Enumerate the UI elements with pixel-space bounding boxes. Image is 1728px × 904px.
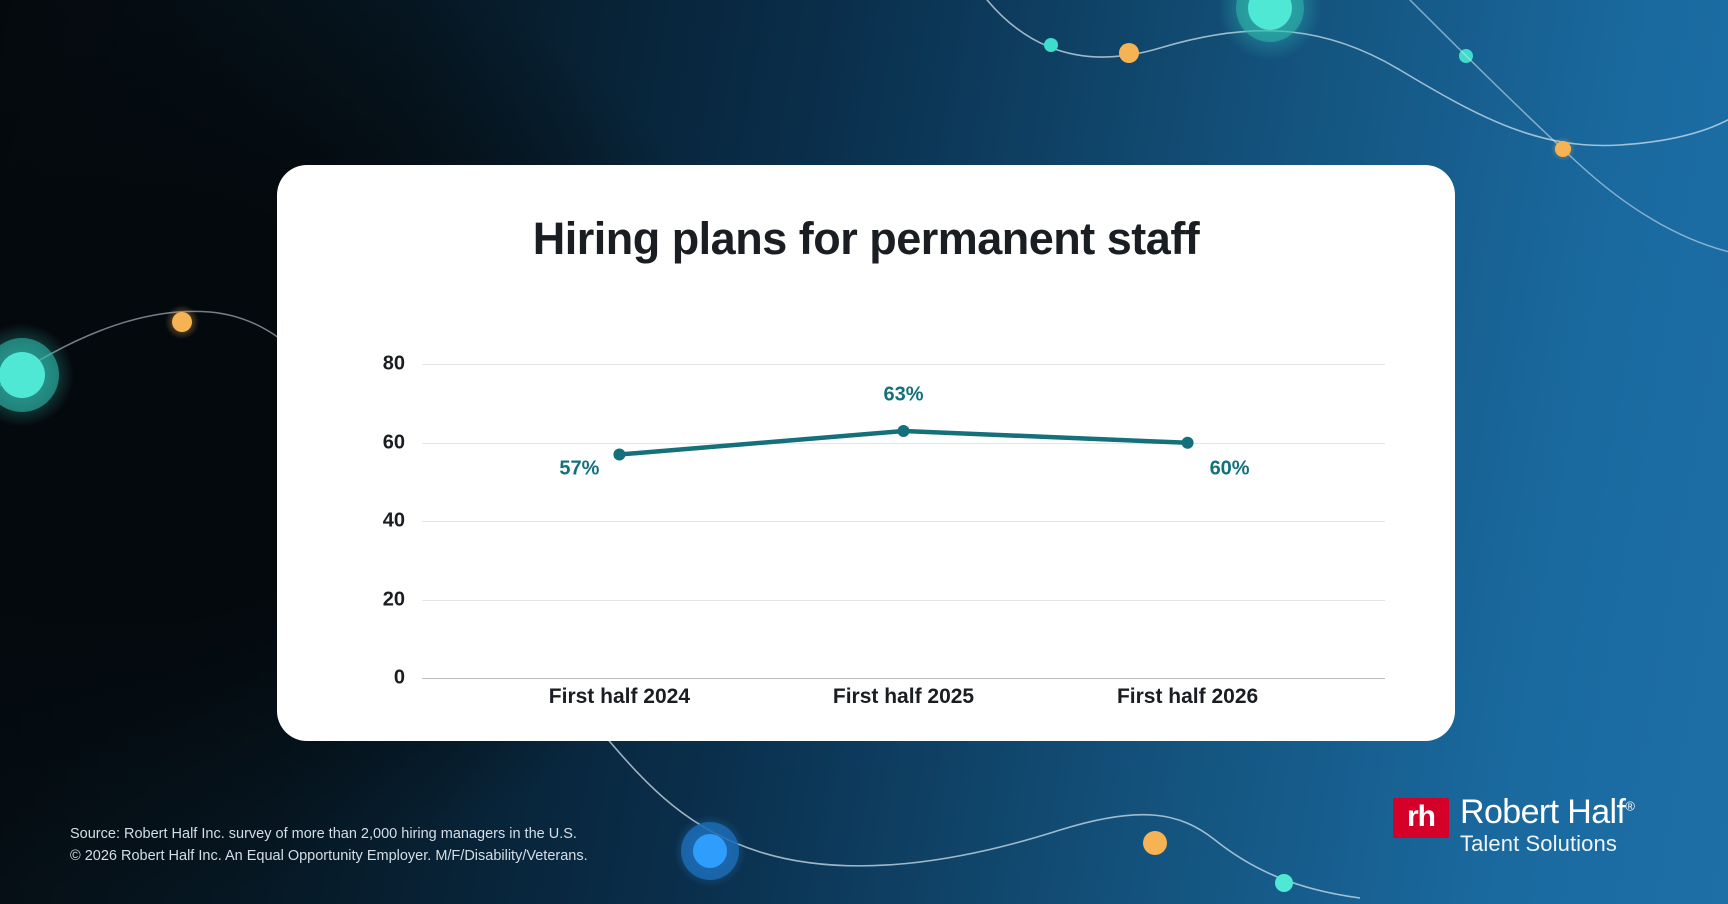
- decorative-halo-teal-left: [0, 323, 74, 427]
- x-axis-tick-2: First half 2026: [1117, 685, 1258, 709]
- logo-wordmark: Robert Half® Talent Solutions: [1460, 795, 1634, 857]
- decorative-dot-teal-topright: [1459, 49, 1473, 63]
- rh-logo-mark: rh: [1393, 798, 1449, 838]
- data-point-label-1: 63%: [883, 384, 923, 407]
- x-axis-tick-1: First half 2025: [833, 685, 974, 709]
- y-axis-tick-60: 60: [347, 431, 405, 454]
- y-axis-tick-20: 20: [347, 588, 405, 611]
- y-axis-tick-0: 0: [347, 667, 405, 690]
- data-point-label-2: 60%: [1210, 457, 1250, 480]
- gridline-0: [422, 678, 1385, 679]
- x-axis-tick-0: First half 2024: [549, 685, 690, 709]
- chart-card: Hiring plans for permanent staff 0204060…: [277, 165, 1455, 741]
- decorative-dot-orange-right: [1555, 141, 1571, 157]
- source-line-1: Source: Robert Half Inc. survey of more …: [70, 824, 588, 846]
- decorative-curve-bottom: [600, 730, 1360, 898]
- decorative-dot-teal-bottom: [1275, 874, 1293, 892]
- decorative-dot-orange-left: [172, 312, 192, 332]
- slide-canvas: Hiring plans for permanent staff 0204060…: [0, 0, 1728, 904]
- logo-tagline: Talent Solutions: [1460, 831, 1634, 857]
- decorative-curve-top: [960, 0, 1728, 146]
- decorative-dot-blue-bottom: [693, 834, 727, 868]
- data-point-2: [1182, 437, 1194, 449]
- y-axis-tick-40: 40: [347, 510, 405, 533]
- decorative-halo-teal-top: [1218, 0, 1322, 60]
- data-point-label-0: 57%: [559, 457, 599, 480]
- decorative-dot-orange-top: [1119, 43, 1139, 63]
- line-series-markers: [613, 425, 1193, 461]
- logo-brand-name: Robert Half®: [1460, 795, 1634, 831]
- page-title: Hiring plans for permanent staff: [277, 213, 1455, 265]
- robert-half-logo: rh Robert Half® Talent Solutions: [1393, 798, 1634, 857]
- registered-trademark-icon: ®: [1625, 799, 1634, 814]
- source-footnote: Source: Robert Half Inc. survey of more …: [70, 824, 588, 868]
- data-point-1: [898, 425, 910, 437]
- y-axis-tick-80: 80: [347, 353, 405, 376]
- source-line-2: © 2026 Robert Half Inc. An Equal Opportu…: [70, 846, 588, 868]
- data-point-0: [613, 449, 625, 461]
- logo-brand-text: Robert Half: [1460, 793, 1625, 831]
- decorative-curve-left: [0, 311, 320, 400]
- decorative-dot-orange-bottom: [1143, 831, 1167, 855]
- chart-plot-area: 020406080 57%63%60% First half 2024First…: [347, 333, 1385, 678]
- decorative-dot-teal-top: [1044, 38, 1058, 52]
